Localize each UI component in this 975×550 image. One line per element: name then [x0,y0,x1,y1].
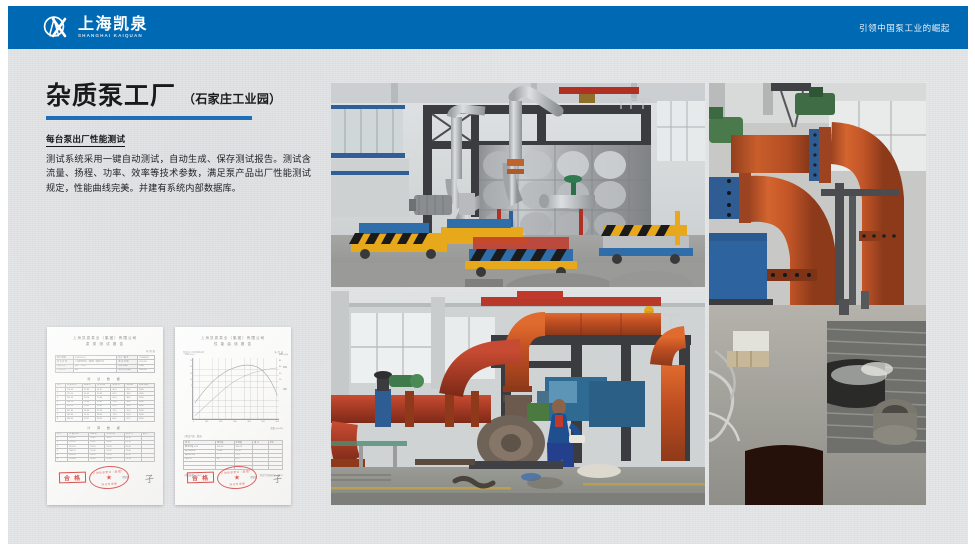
cell: 300/250 [138,368,155,372]
cell: 进出口径 mm [117,368,138,372]
brand-logo: 上海凯泉 SHANGHAI KAIQUAN [42,13,148,42]
cell: 62.1 [125,417,138,421]
x-tick: 0 [193,421,194,423]
presentation-slide: 上海凯泉 SHANGHAI KAIQUAN 引领中国泵工业的崛起 杂质泵工厂 （… [0,0,975,550]
brand-name-cn: 上海凯泉 [78,16,148,32]
x-tick: 100 [205,421,208,423]
photo-large-pipe-elbows[interactable] [709,83,926,505]
chart-xlabel: 流量 Q(m³/h) [183,426,283,430]
doc1-section-1: 测 试 数 据 [55,377,155,381]
cell [141,457,154,461]
table-row: 8448.9013.5728.3168.262.11480 [56,417,155,421]
cell: mm [73,368,117,372]
doc1-sign-label: 检验员 [122,475,129,479]
chart-curve-series [193,358,279,419]
photo-large-pipe-elbows-image [709,83,926,505]
chart-x-axis: 0 100 200 300 400 500 600 [193,421,279,423]
chart-y-axis-right: 80 60 40 20 [279,358,286,383]
star-icon: ★ [234,473,241,481]
x-tick: 400 [247,421,250,423]
doc1-measured-table: 序号 流 量 m³/h 扬程 m 功 率 kW 效 率 % 电流 A 转速 r/… [55,383,155,422]
x-tick: 600 [276,421,279,423]
section-lead-heading: 每台泵出厂性能测试 [46,133,125,147]
doc2-note: （测试介质：清水） [183,434,283,438]
cell: 叶轮外径 [56,368,74,372]
photo-test-bench-worker[interactable] [331,291,705,505]
page-subtitle: （石家庄工业园） [183,90,281,110]
doc1-signature: 子 [144,471,155,485]
slide-header-bar: 上海凯泉 SHANGHAI KAIQUAN 引领中国泵工业的崛起 [8,6,968,49]
doc1-stamp-bottom-text: 测试专用章 [90,480,128,487]
doc1-calculated-table: 序号 流 量 m³/h 扬程 m 功 率 kW 效 率 % 备 注 1118.3… [55,432,155,462]
chart-curve-label-e: 效率 [283,388,287,391]
kaiquan-circular-kx-mark-icon [42,14,72,42]
photo-test-hall-water-tanks-image [331,83,705,287]
doc1-pass-stamp: 合 格 [59,472,86,484]
doc1-date: 年 月 日 [55,349,155,353]
y2-tick: 20 [279,377,286,383]
cell: 8 [56,417,66,421]
cell: 28.31 [95,417,111,421]
content-text-column: 杂质泵工厂 （石家庄工业园） 每台泵出厂性能测试 测试系统采用一键自动测试，自动… [46,82,311,197]
brand-logo-text: 上海凯泉 SHANGHAI KAIQUAN [78,16,148,39]
doc2-pass-stamp: 合 格 [187,472,214,484]
cell: 1480 [137,417,154,421]
cell: 6 [56,457,68,461]
table-row: 6351.6018.4427.2079.10 [56,457,155,461]
chart-ylabel: 扬程 H(m) [185,353,194,356]
x-tick: 200 [219,421,222,423]
cell: 351.60 [68,457,89,461]
header-slogan: 引领中国泵工业的崛起 [859,6,950,49]
doc2-sign-label: 检验员 [250,475,257,479]
x-tick: 500 [261,421,264,423]
cell: 448.90 [65,417,82,421]
x-tick: 300 [233,421,236,423]
cell: 13.57 [82,417,95,421]
table-row: 叶轮外径 mm 进出口径 mm 300/250 [56,368,155,372]
doc1-section-2: 计 算 数 据 [55,426,155,430]
cell: 68.2 [111,417,125,421]
page-title: 杂质泵工厂 [46,82,176,110]
photo-test-hall-water-tanks[interactable] [331,83,705,287]
doc1-subtitle: 泵 类 测 试 报 告 [55,342,155,348]
brand-name-en: SHANGHAI KAIQUAN [78,34,148,39]
chart-y-axis-left: 25 20 15 10 5 [185,358,192,389]
cell [268,466,282,470]
doc2-signature: 子 [272,471,283,485]
doc2-stamp-bottom-text: 测试专用章 [218,480,256,487]
doc2-subtitle: 性 能 曲 线 报 告 [183,342,283,348]
cell [184,466,216,470]
page-title-row: 杂质泵工厂 （石家庄工业园） [46,82,311,110]
cell: 18.44 [89,457,105,461]
performance-curve-report-thumbnail[interactable]: 上海凯泉泵业（集团）有限公司 性 能 曲 线 报 告 泵型号: KQS300-2… [175,327,291,505]
photo-test-bench-worker-image [331,291,705,505]
chart-y2label: 效率 η(%) [279,353,288,356]
y-tick: 5 [185,383,192,389]
test-data-report-thumbnail[interactable]: 上海凯泉泵业（集团）有限公司 泵 类 测 试 报 告 年 月 日 型号/规格 K… [47,327,163,505]
chart-curve-label-h: 扬程 [283,366,287,369]
cell: 27.20 [105,457,124,461]
report-thumbnails: 上海凯泉泵业（集团）有限公司 泵 类 测 试 报 告 年 月 日 型号/规格 K… [47,327,291,505]
performance-curve-chart: 25 20 15 10 5 80 60 40 20 扬程 H(m) 效率 η(%… [192,358,279,420]
body-paragraph: 测试系统采用一键自动测试，自动生成、保存测试报告。测试含流量、扬程、功率、效率等… [46,153,311,198]
doc1-info-table: 型号/规格 KQS300-20 出 厂 编 号 12345678 单 位 名 称… [55,355,155,373]
star-icon: ★ [106,473,113,481]
photo-collage [331,83,926,505]
cell: 79.10 [124,457,141,461]
